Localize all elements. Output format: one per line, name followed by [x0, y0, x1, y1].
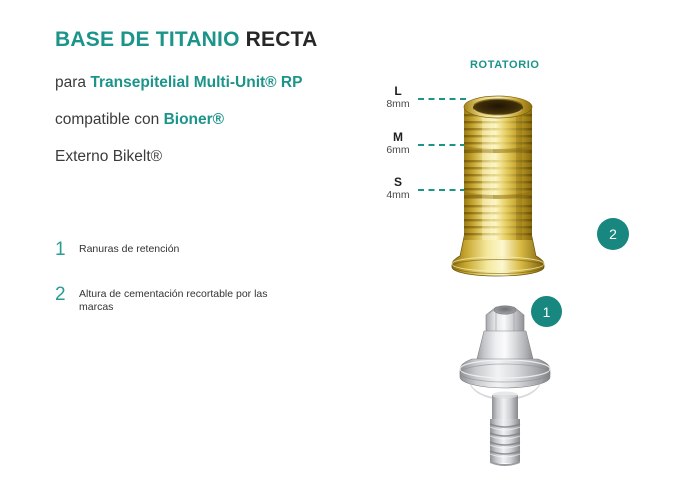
product-diagram: ROTATORIO L 8mm M 6mm S 4mm: [360, 0, 700, 500]
callout-badge-2[interactable]: 2: [597, 218, 629, 250]
legend-item-label: Altura de cementación recortable por las…: [79, 285, 294, 314]
description-line-1-emphasis: Transepitelial Multi-Unit® RP: [90, 74, 302, 91]
callout-badge-1[interactable]: 1: [531, 296, 562, 327]
legend-item-number: 1: [55, 240, 79, 259]
description-line-2-emphasis: Bioner®: [164, 111, 225, 128]
legend: 1 Ranuras de retención 2 Altura de cemen…: [55, 240, 355, 340]
silver-abutment-svg: [450, 303, 560, 473]
product-info-panel: BASE DE TITANIO RECTA para Transepitelia…: [55, 28, 385, 185]
legend-item-label: Ranuras de retención: [79, 240, 179, 256]
rotatorio-label: ROTATORIO: [470, 59, 540, 71]
description-line-1: para Transepitelial Multi-Unit® RP: [55, 74, 385, 91]
page-title-primary: BASE DE TITANIO: [55, 28, 240, 51]
description-line-2-prefix: compatible con: [55, 111, 164, 128]
legend-item: 1 Ranuras de retención: [55, 240, 355, 259]
legend-item-number: 2: [55, 285, 79, 304]
page-title-secondary: RECTA: [246, 28, 318, 51]
gold-abutment-svg: [438, 88, 558, 280]
measurement-letter: L: [370, 85, 426, 98]
silver-abutment-illustration: [450, 303, 560, 473]
page-title: BASE DE TITANIO RECTA: [55, 28, 385, 52]
gold-abutment-illustration: 1 2: [438, 88, 558, 280]
measurement-letter: M: [370, 131, 426, 144]
description-line-1-prefix: para: [55, 74, 90, 91]
measurement-letter: S: [370, 176, 426, 189]
description-line-3: Externo Bikelt®: [55, 148, 385, 165]
legend-item: 2 Altura de cementación recortable por l…: [55, 285, 355, 314]
description-line-2: compatible con Bioner®: [55, 111, 385, 128]
